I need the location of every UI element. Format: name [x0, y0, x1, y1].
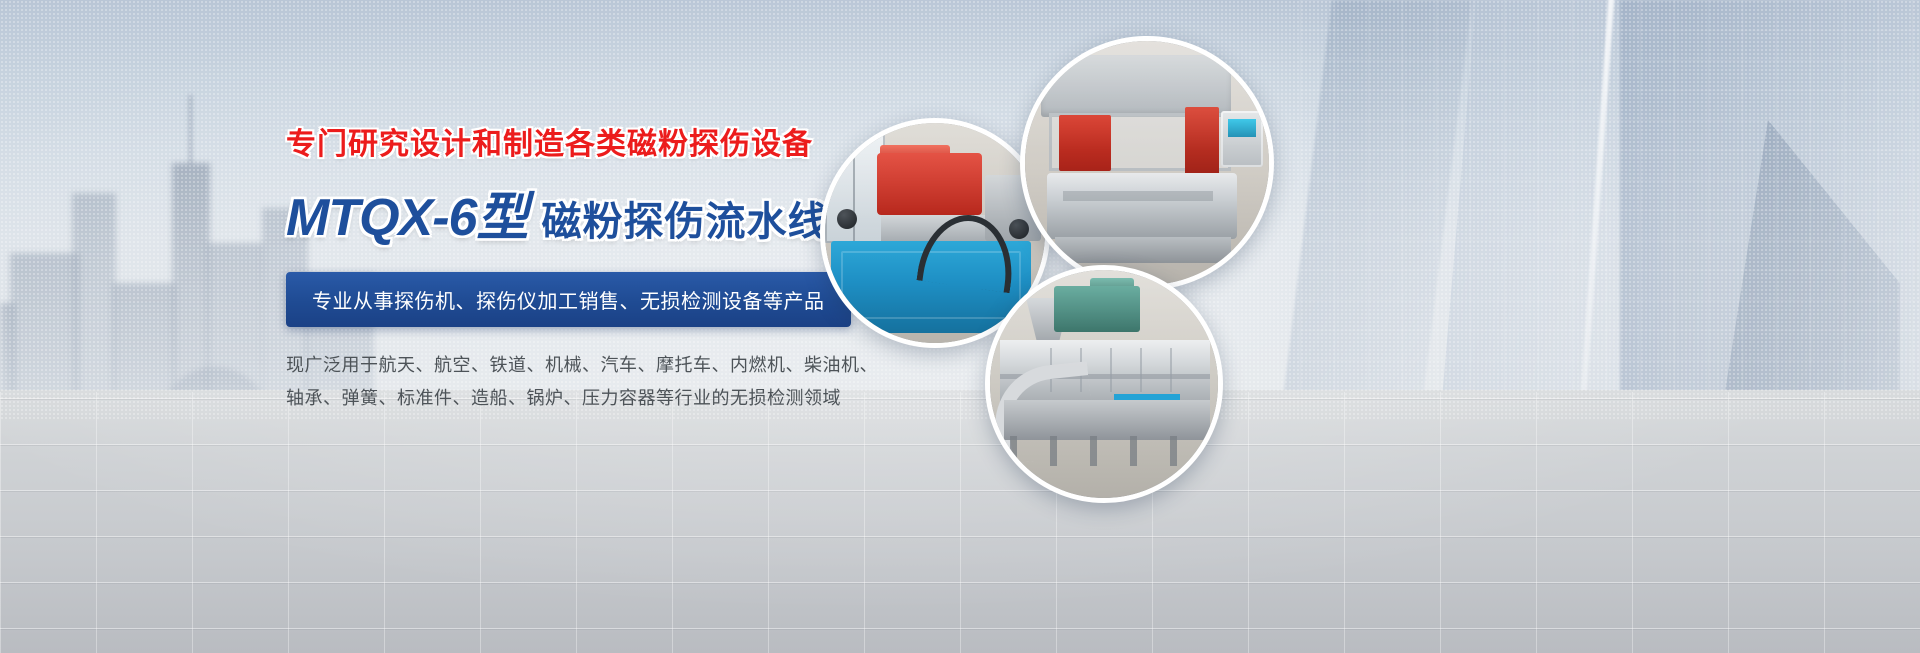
banner-description: 现广泛用于航天、航空、铁道、机械、汽车、摩托车、内燃机、柴油机、 轴承、弹簧、标… [286, 349, 926, 416]
line-green-unit [1054, 286, 1140, 332]
cabinet-red-unit [1059, 115, 1111, 171]
product-photo-stainless-steel-inspection-cabinet [1020, 36, 1274, 290]
line-base [1004, 400, 1210, 440]
promo-banner: 专门研究设计和制造各类磁粉探伤设备 MTQX-6型 磁粉探伤流水线 专业从事探伤… [0, 0, 1920, 653]
cabinet-legs [1055, 237, 1231, 263]
cabinet-steel-tank [1047, 173, 1237, 239]
machine-knob [837, 209, 857, 229]
product-photo-conveyor-inspection-production-line [985, 265, 1223, 503]
services-badge[interactable]: 专业从事探伤机、探伤仪加工销售、无损检测设备等产品 [286, 272, 851, 327]
line-support-legs [1010, 436, 1206, 466]
tower-antenna [189, 95, 192, 165]
machine-red-housing [877, 153, 982, 215]
product-model-code: MTQX-6型 [286, 175, 527, 250]
photo-background [990, 270, 1218, 498]
cabinet-red-column [1185, 107, 1219, 177]
description-line-2: 轴承、弹簧、标准件、造船、锅炉、压力容器等行业的无损检测领域 [286, 382, 926, 415]
floor-tile-lines-vertical [0, 392, 1920, 653]
description-line-1: 现广泛用于航天、航空、铁道、机械、汽车、摩托车、内燃机、柴油机、 [286, 349, 926, 382]
city-silhouette [72, 193, 116, 423]
product-name: 磁粉探伤流水线 [541, 189, 828, 247]
cabinet-control-box [1221, 111, 1263, 167]
photo-background [1025, 41, 1269, 285]
